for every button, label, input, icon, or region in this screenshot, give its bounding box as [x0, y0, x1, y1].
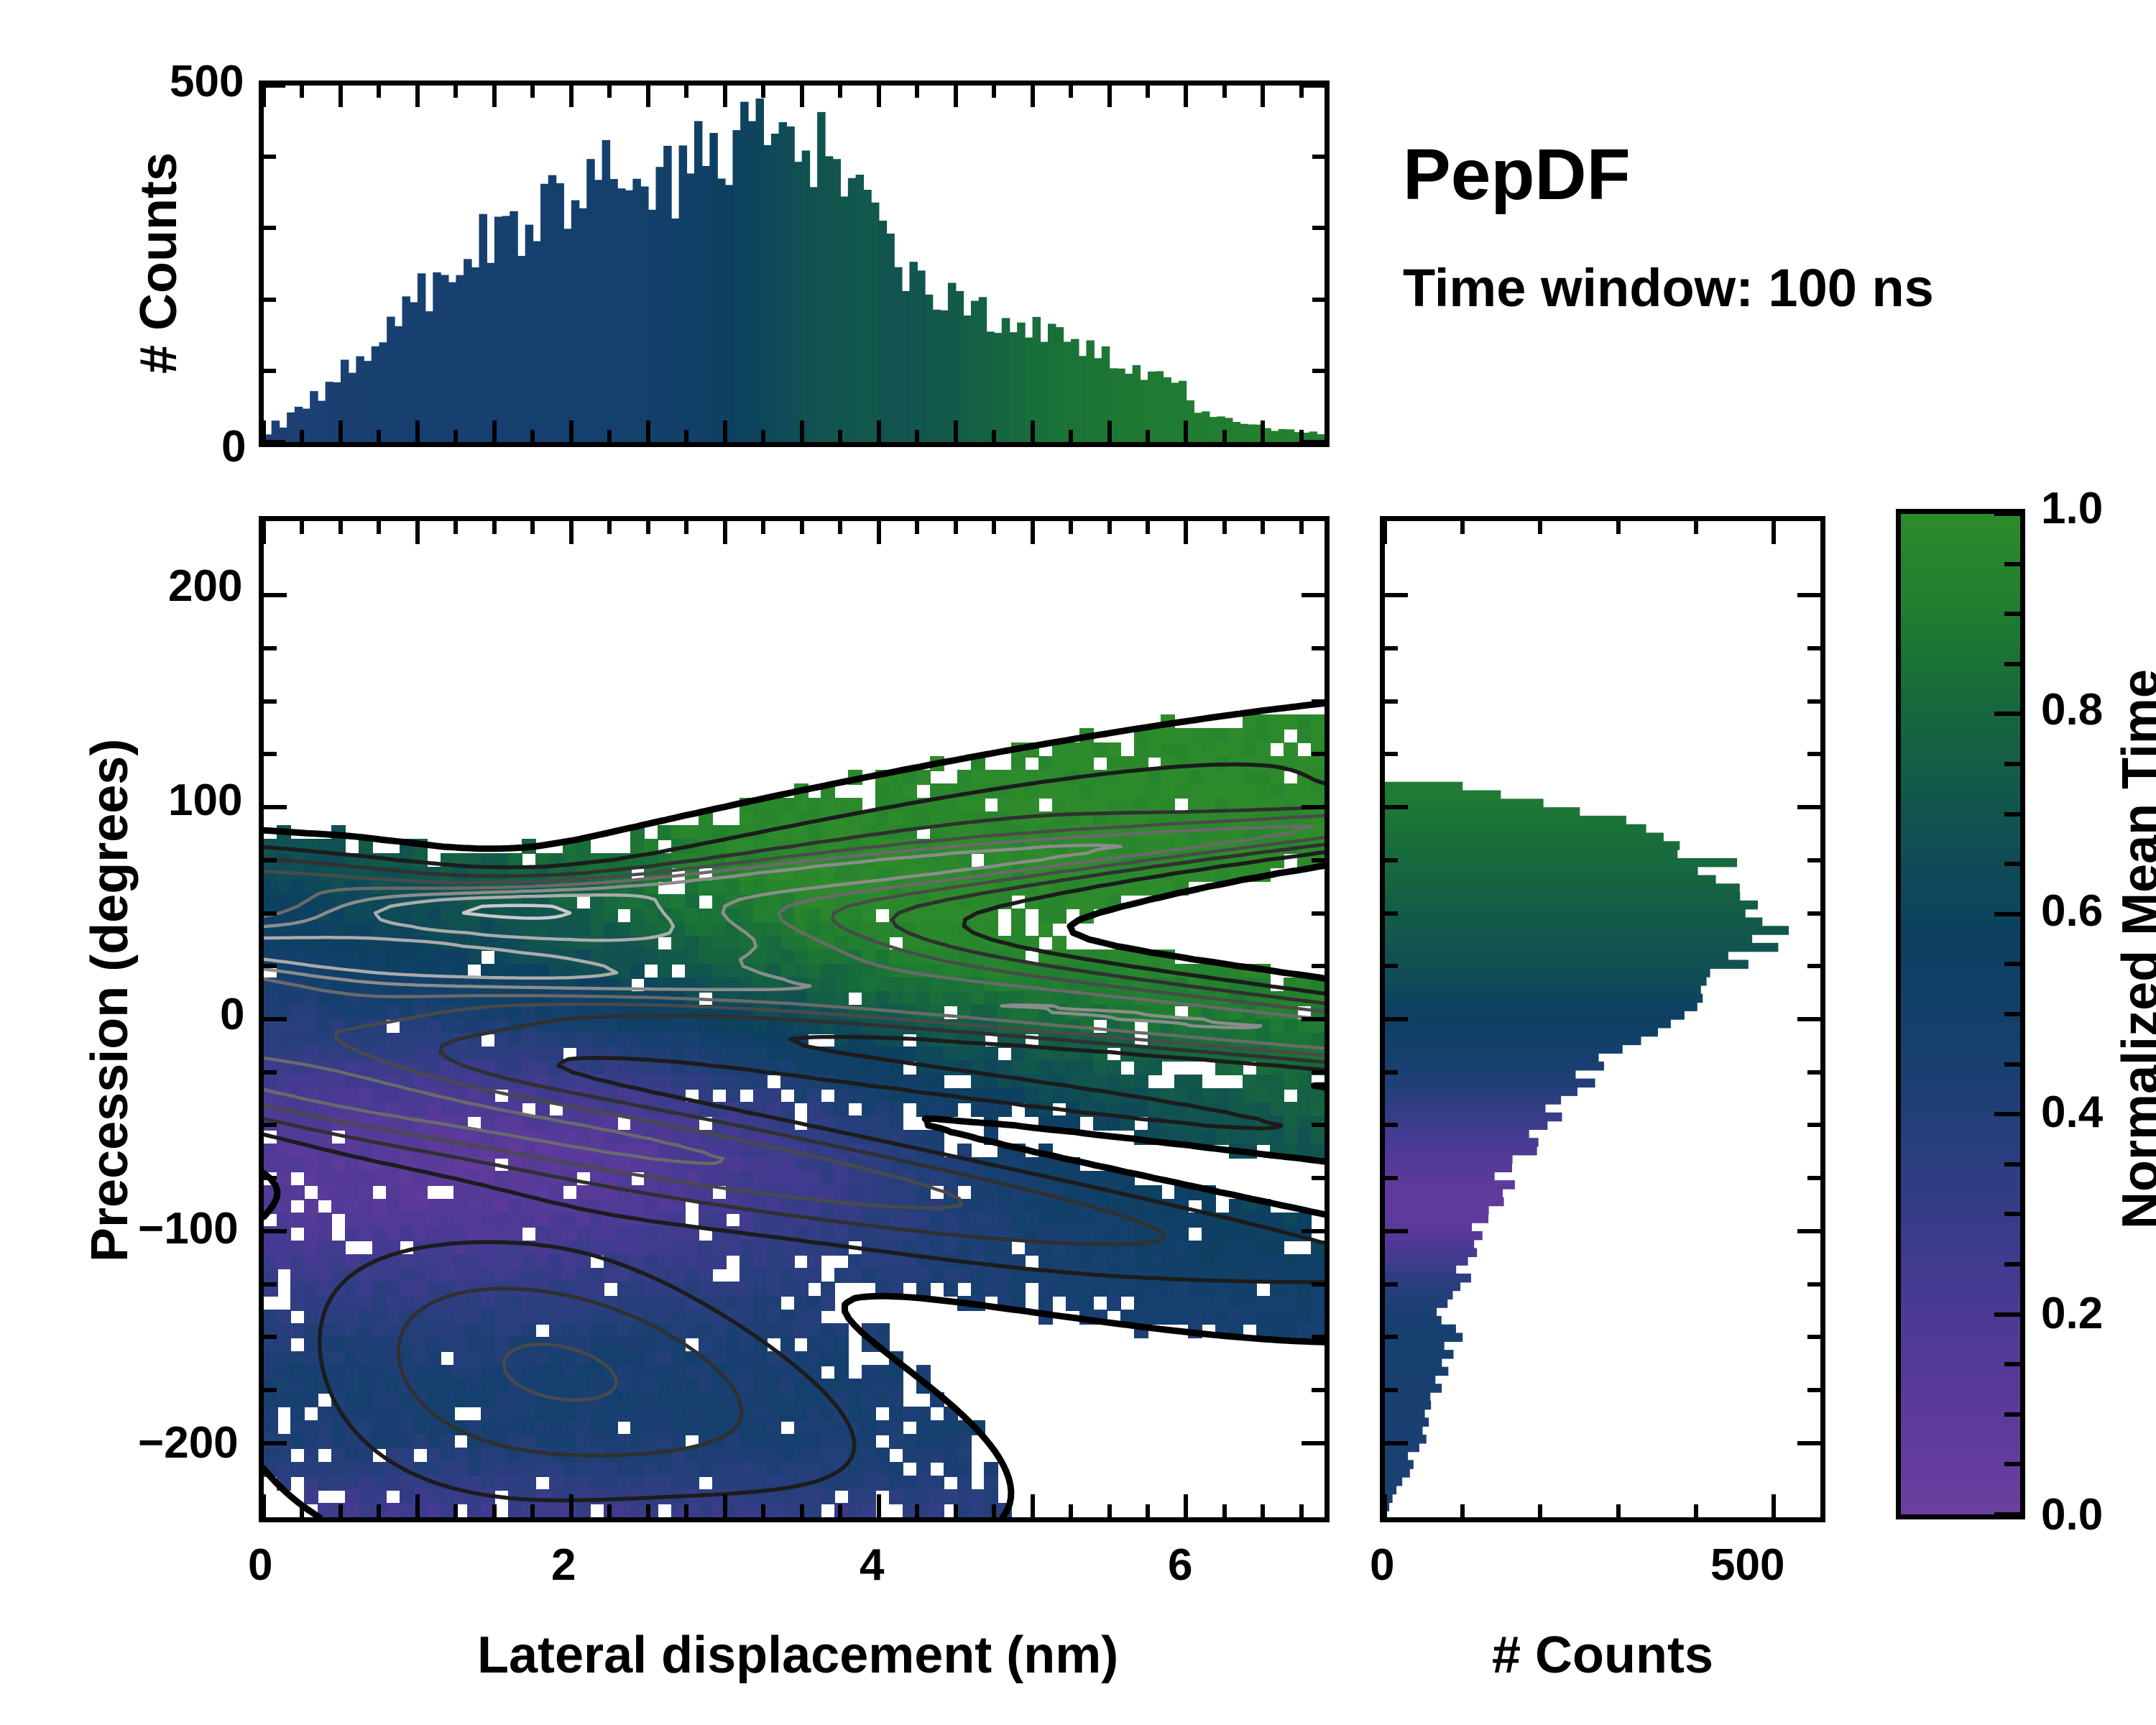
tick-mark	[1222, 1504, 1227, 1517]
tick-mark	[1797, 1017, 1820, 1021]
tick-mark	[1385, 752, 1398, 756]
tick-mark	[1312, 155, 1325, 159]
tick-mark	[1797, 805, 1820, 809]
tick-mark	[838, 430, 842, 442]
tick-mark	[2004, 812, 2020, 816]
right-hist-xtick-500: 500	[1710, 1540, 1784, 1591]
tick-mark	[1383, 521, 1387, 544]
tick-mark	[1460, 1504, 1465, 1517]
tick-mark	[530, 430, 535, 442]
tick-mark	[1312, 911, 1325, 916]
tick-mark	[1184, 86, 1188, 107]
tick-mark	[1772, 521, 1776, 544]
main-ytick-200: 200	[168, 561, 242, 612]
tick-mark	[1031, 521, 1035, 544]
tick-mark	[607, 521, 612, 534]
tick-mark	[1807, 858, 1820, 862]
tick-mark	[1184, 521, 1188, 544]
top-marginal-histogram-panel	[259, 80, 1330, 447]
tick-mark	[2004, 1212, 2020, 1216]
tick-mark	[1807, 646, 1820, 650]
tick-mark	[264, 805, 287, 809]
tick-mark	[264, 155, 276, 159]
tick-mark	[492, 1504, 497, 1517]
tick-mark	[2004, 1062, 2020, 1067]
top-hist-ytick-500: 500	[170, 56, 244, 107]
tick-mark	[954, 521, 958, 534]
tick-mark	[2004, 1462, 2020, 1466]
tick-mark	[915, 521, 919, 534]
tick-mark	[992, 1504, 996, 1517]
tick-mark	[300, 86, 304, 98]
tick-mark	[1385, 593, 1408, 597]
right-hist-xlabel: # Counts	[1492, 1626, 1713, 1685]
tick-mark	[1312, 1388, 1325, 1392]
tick-mark	[1299, 1504, 1304, 1517]
tick-mark	[723, 1494, 727, 1517]
tick-mark	[1184, 420, 1188, 442]
tick-mark	[684, 521, 688, 534]
tick-mark	[954, 420, 958, 442]
tick-mark	[262, 1494, 266, 1517]
tick-mark	[1994, 1112, 2020, 1116]
tick-mark	[954, 1504, 958, 1517]
tick-mark	[1385, 1123, 1398, 1127]
tick-mark	[607, 430, 612, 442]
tick-mark	[1146, 1504, 1150, 1517]
main-ytick-neg200: −200	[138, 1417, 239, 1468]
tick-mark	[1385, 964, 1398, 968]
tick-mark	[264, 911, 277, 916]
tick-mark	[453, 521, 458, 534]
tick-mark	[761, 521, 765, 534]
tick-mark	[530, 86, 535, 98]
tick-mark	[1069, 86, 1073, 98]
main-xtick-2: 2	[551, 1540, 576, 1591]
tick-mark	[1312, 1282, 1325, 1287]
tick-mark	[415, 521, 420, 544]
tick-mark	[723, 420, 727, 442]
tick-mark	[1807, 1282, 1820, 1287]
tick-mark	[264, 1017, 287, 1021]
tick-mark	[800, 521, 804, 534]
tick-mark	[264, 593, 287, 597]
tick-mark	[1807, 911, 1820, 916]
tick-mark	[1312, 699, 1325, 704]
main-density-plot-panel	[259, 516, 1330, 1522]
tick-mark	[492, 86, 497, 107]
tick-mark	[1385, 805, 1408, 809]
tick-mark	[2004, 562, 2020, 566]
tick-mark	[2004, 612, 2020, 616]
tick-mark	[530, 1504, 535, 1517]
colorbar-tick-1-0: 1.0	[2041, 483, 2103, 534]
top-histogram-canvas	[264, 86, 1325, 442]
main-xlabel: Lateral displacement (nm)	[477, 1626, 1118, 1685]
tick-mark	[2004, 662, 2020, 666]
figure-root: 500 0 # Counts PepDF Time window: 100 ns…	[0, 0, 2156, 1725]
tick-mark	[1312, 646, 1325, 650]
tick-mark	[1616, 521, 1621, 534]
tick-mark	[1312, 1335, 1325, 1339]
tick-mark	[264, 858, 277, 862]
tick-mark	[2004, 1162, 2020, 1167]
tick-mark	[1807, 1388, 1820, 1392]
tick-mark	[264, 1282, 277, 1287]
right-marginal-histogram-panel	[1380, 516, 1825, 1522]
tick-mark	[264, 369, 276, 373]
tick-mark	[264, 226, 276, 230]
tick-mark	[1146, 430, 1150, 442]
tick-mark	[1385, 911, 1398, 916]
tick-mark	[338, 1504, 343, 1517]
tick-mark	[492, 521, 497, 534]
tick-mark	[1385, 1441, 1408, 1445]
tick-mark	[992, 430, 996, 442]
colorbar-tick-0-8: 0.8	[2041, 684, 2103, 735]
tick-mark	[1994, 512, 2020, 516]
tick-mark	[415, 1494, 420, 1517]
tick-mark	[264, 964, 277, 968]
top-hist-ylabel: # Counts	[129, 152, 188, 374]
tick-mark	[1261, 420, 1265, 442]
tick-mark	[264, 752, 277, 756]
main-ytick-0: 0	[220, 989, 244, 1040]
tick-mark	[1385, 1176, 1398, 1180]
tick-mark	[264, 1388, 277, 1392]
tick-mark	[1694, 521, 1698, 534]
tick-mark	[1302, 593, 1325, 597]
tick-mark	[761, 430, 765, 442]
tick-mark	[264, 440, 285, 444]
tick-mark	[415, 420, 420, 442]
colorbar-tick-0-4: 0.4	[2041, 1087, 2103, 1138]
tick-mark	[1312, 1176, 1325, 1180]
tick-mark	[1312, 964, 1325, 968]
tick-mark	[530, 521, 535, 534]
tick-mark	[1312, 858, 1325, 862]
tick-mark	[1184, 1494, 1188, 1517]
tick-mark	[1385, 1388, 1398, 1392]
tick-mark	[1107, 521, 1112, 534]
tick-mark	[1107, 1504, 1112, 1517]
tick-mark	[264, 1441, 287, 1445]
tick-mark	[992, 521, 996, 534]
tick-mark	[723, 521, 727, 544]
tick-mark	[2004, 1362, 2020, 1366]
tick-mark	[2004, 1412, 2020, 1417]
tick-mark	[646, 420, 650, 442]
tick-mark	[838, 521, 842, 534]
tick-mark	[1385, 646, 1398, 650]
tick-mark	[684, 430, 688, 442]
tick-mark	[1107, 86, 1112, 107]
tick-mark	[1385, 1017, 1408, 1021]
tick-mark	[1261, 1504, 1265, 1517]
tick-mark	[607, 1504, 612, 1517]
main-ylabel: Precession (degrees)	[80, 739, 139, 1262]
page-title: PepDF	[1403, 134, 1631, 216]
tick-mark	[262, 86, 266, 107]
tick-mark	[723, 86, 727, 107]
tick-mark	[1460, 521, 1465, 534]
tick-mark	[300, 430, 304, 442]
tick-mark	[2004, 1012, 2020, 1016]
tick-mark	[1261, 521, 1265, 534]
main-xtick-4: 4	[860, 1540, 884, 1591]
tick-mark	[264, 298, 276, 302]
tick-mark	[1312, 1070, 1325, 1075]
tick-mark	[338, 86, 343, 107]
tick-mark	[1312, 369, 1325, 373]
tick-mark	[1031, 420, 1035, 442]
tick-mark	[1994, 912, 2020, 916]
tick-mark	[1807, 1070, 1820, 1075]
tick-mark	[877, 521, 881, 544]
tick-mark	[1312, 752, 1325, 756]
tick-mark	[1807, 1123, 1820, 1127]
tick-mark	[1772, 1494, 1776, 1517]
tick-mark	[1107, 420, 1112, 442]
tick-mark	[2004, 762, 2020, 766]
tick-mark	[1302, 805, 1325, 809]
tick-mark	[338, 420, 343, 442]
tick-mark	[838, 86, 842, 98]
tick-mark	[262, 420, 266, 442]
tick-mark	[761, 1504, 765, 1517]
tick-mark	[1994, 1312, 2020, 1317]
tick-mark	[1069, 521, 1073, 534]
tick-mark	[1385, 858, 1398, 862]
tick-mark	[1312, 1123, 1325, 1127]
tick-mark	[646, 1504, 650, 1517]
tick-mark	[2004, 862, 2020, 866]
tick-mark	[453, 86, 458, 98]
tick-mark	[1797, 593, 1820, 597]
tick-mark	[1385, 699, 1398, 704]
tick-mark	[1031, 1494, 1035, 1517]
main-xtick-6: 6	[1168, 1540, 1192, 1591]
colorbar-tick-0-0: 0.0	[2041, 1489, 2103, 1540]
tick-mark	[1994, 712, 2020, 716]
tick-mark	[1222, 521, 1227, 534]
tick-mark	[1385, 1070, 1398, 1075]
tick-mark	[1261, 86, 1265, 107]
tick-mark	[838, 1504, 842, 1517]
tick-mark	[1994, 1512, 2020, 1517]
right-histogram-canvas	[1385, 521, 1820, 1517]
colorbar-gradient	[1901, 514, 2020, 1514]
tick-mark	[646, 86, 650, 107]
colorbar-label: Normalized Mean Time	[2111, 669, 2156, 1229]
tick-mark	[415, 86, 420, 107]
tick-mark	[377, 430, 381, 442]
tick-mark	[954, 86, 958, 107]
tick-mark	[264, 646, 277, 650]
tick-mark	[877, 86, 881, 107]
tick-mark	[992, 86, 996, 98]
tick-mark	[492, 420, 497, 442]
tick-mark	[915, 430, 919, 442]
tick-mark	[569, 86, 573, 107]
tick-mark	[338, 521, 343, 534]
tick-mark	[1807, 752, 1820, 756]
tick-mark	[1299, 521, 1304, 534]
tick-mark	[377, 1504, 381, 1517]
tick-mark	[1797, 1229, 1820, 1233]
tick-mark	[1146, 86, 1150, 98]
tick-mark	[800, 420, 804, 442]
tick-mark	[2004, 962, 2020, 966]
tick-mark	[300, 1504, 304, 1517]
tick-mark	[300, 521, 304, 534]
tick-mark	[1616, 1504, 1621, 1517]
tick-mark	[264, 1070, 277, 1075]
tick-mark	[1383, 1494, 1387, 1517]
tick-mark	[800, 1504, 804, 1517]
tick-mark	[1694, 1504, 1698, 1517]
tick-mark	[1031, 86, 1035, 107]
tick-mark	[1807, 1335, 1820, 1339]
tick-mark	[1807, 1176, 1820, 1180]
tick-mark	[607, 86, 612, 98]
tick-mark	[1146, 521, 1150, 534]
tick-mark	[1385, 1282, 1398, 1287]
top-hist-ytick-0: 0	[221, 421, 246, 472]
tick-mark	[1303, 83, 1325, 88]
tick-mark	[1222, 430, 1227, 442]
tick-mark	[1312, 298, 1325, 302]
tick-mark	[377, 521, 381, 534]
tick-mark	[1069, 430, 1073, 442]
tick-mark	[877, 420, 881, 442]
main-ytick-neg100: −100	[138, 1203, 239, 1254]
tick-mark	[1302, 1017, 1325, 1021]
tick-mark	[1385, 1335, 1398, 1339]
tick-mark	[453, 430, 458, 442]
main-ytick-100: 100	[168, 775, 242, 826]
tick-mark	[915, 1504, 919, 1517]
time-window-subtitle: Time window: 100 ns	[1403, 257, 1934, 318]
tick-mark	[264, 699, 277, 704]
tick-mark	[684, 1504, 688, 1517]
tick-mark	[646, 521, 650, 534]
tick-mark	[1807, 964, 1820, 968]
tick-mark	[1303, 440, 1325, 444]
tick-mark	[1538, 1504, 1542, 1517]
tick-mark	[264, 1229, 287, 1233]
tick-mark	[569, 521, 573, 544]
tick-mark	[1302, 1441, 1325, 1445]
tick-mark	[264, 1335, 277, 1339]
tick-mark	[1302, 1229, 1325, 1233]
colorbar-tick-0-2: 0.2	[2041, 1288, 2103, 1339]
tick-mark	[800, 86, 804, 107]
tick-mark	[453, 1504, 458, 1517]
tick-mark	[264, 1123, 277, 1127]
tick-mark	[1807, 699, 1820, 704]
tick-mark	[262, 521, 266, 544]
tick-mark	[761, 86, 765, 98]
tick-mark	[2004, 1262, 2020, 1266]
colorbar-tick-0-6: 0.6	[2041, 885, 2103, 937]
tick-mark	[264, 83, 285, 88]
tick-mark	[1312, 226, 1325, 230]
tick-mark	[1385, 1229, 1408, 1233]
tick-mark	[1222, 86, 1227, 98]
right-hist-xtick-0: 0	[1370, 1540, 1394, 1591]
tick-mark	[684, 86, 688, 98]
tick-mark	[1538, 521, 1542, 534]
tick-mark	[264, 1176, 277, 1180]
main-density-canvas	[264, 521, 1325, 1517]
tick-mark	[377, 86, 381, 98]
tick-mark	[1797, 1441, 1820, 1445]
main-xtick-0: 0	[248, 1540, 272, 1591]
tick-mark	[877, 1494, 881, 1517]
tick-mark	[569, 1494, 573, 1517]
tick-mark	[915, 86, 919, 98]
tick-mark	[1069, 1504, 1073, 1517]
tick-mark	[569, 420, 573, 442]
